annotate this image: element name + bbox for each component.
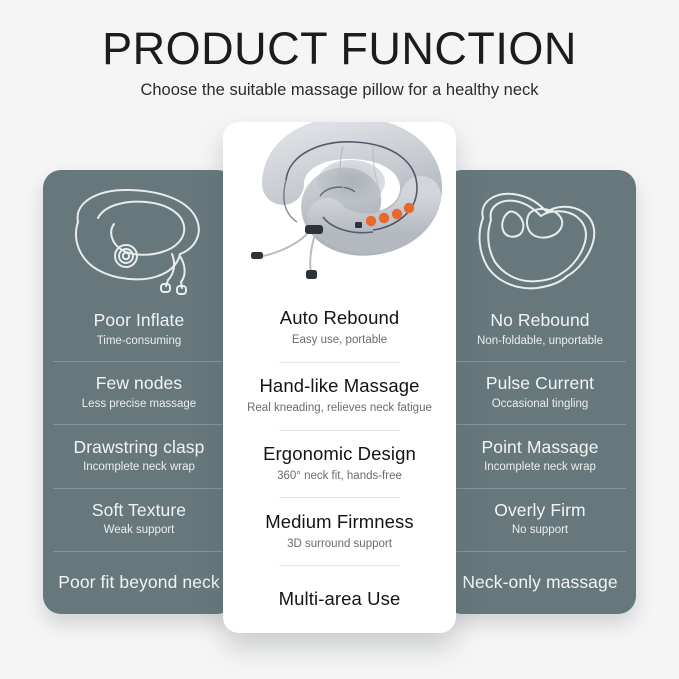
feature-title: Medium Firmness bbox=[265, 512, 414, 533]
feature-subtitle: Weak support bbox=[104, 524, 175, 537]
feature-title: Overly Firm bbox=[494, 501, 586, 521]
massage-pillow-product-photo bbox=[223, 122, 456, 294]
feature-subtitle: 3D surround support bbox=[287, 538, 392, 551]
list-item: Few nodes Less precise massage bbox=[43, 361, 235, 424]
center-column-card: Auto Rebound Easy use, portable Hand-lik… bbox=[223, 122, 456, 633]
feature-title: Soft Texture bbox=[92, 501, 186, 521]
feature-subtitle: Easy use, portable bbox=[292, 334, 387, 347]
list-item: Soft Texture Weak support bbox=[43, 488, 235, 551]
feature-title: Hand-like Massage bbox=[259, 376, 419, 397]
feature-subtitle: Incomplete neck wrap bbox=[484, 461, 596, 474]
right-column-panel: No Rebound Non-foldable, unportable Puls… bbox=[444, 170, 636, 614]
feature-subtitle: Incomplete neck wrap bbox=[83, 461, 195, 474]
list-item: Overly Firm No support bbox=[444, 488, 636, 551]
feature-subtitle: Time-consuming bbox=[97, 335, 182, 348]
list-item: Multi-area Use bbox=[223, 565, 456, 633]
feature-title: Ergonomic Design bbox=[263, 444, 416, 465]
list-item: Pulse Current Occasional tingling bbox=[444, 361, 636, 424]
list-item: Ergonomic Design 360° neck fit, hands-fr… bbox=[223, 430, 456, 498]
list-item: Neck-only massage bbox=[444, 551, 636, 614]
feature-subtitle: Occasional tingling bbox=[492, 398, 589, 411]
left-column-panel: Poor Inflate Time-consuming Few nodes Le… bbox=[43, 170, 235, 614]
list-item: No Rebound Non-foldable, unportable bbox=[444, 298, 636, 361]
feature-title: Few nodes bbox=[96, 374, 183, 394]
right-feature-list: No Rebound Non-foldable, unportable Puls… bbox=[444, 298, 636, 614]
list-item: Auto Rebound Easy use, portable bbox=[223, 294, 456, 362]
inflatable-pillow-illustration bbox=[43, 178, 235, 298]
page-title: PRODUCT FUNCTION bbox=[0, 22, 679, 75]
feature-title: Auto Rebound bbox=[280, 308, 400, 329]
list-item: Point Massage Incomplete neck wrap bbox=[444, 424, 636, 487]
feature-title: No Rebound bbox=[490, 311, 589, 331]
feature-title: Neck-only massage bbox=[462, 573, 617, 593]
feature-subtitle: Less precise massage bbox=[82, 398, 196, 411]
feature-subtitle: Non-foldable, unportable bbox=[477, 335, 603, 348]
page-subtitle: Choose the suitable massage pillow for a… bbox=[0, 81, 679, 100]
list-item: Medium Firmness 3D surround support bbox=[223, 497, 456, 565]
neckband-massager-illustration bbox=[444, 178, 636, 298]
feature-title: Poor fit beyond neck bbox=[58, 573, 220, 593]
feature-subtitle: Real kneading, relieves neck fatigue bbox=[247, 402, 432, 415]
feature-title: Multi-area Use bbox=[279, 589, 401, 610]
list-item: Hand-like Massage Real kneading, relieve… bbox=[223, 362, 456, 430]
feature-title: Drawstring clasp bbox=[74, 438, 205, 458]
feature-title: Point Massage bbox=[481, 438, 598, 458]
list-item: Poor fit beyond neck bbox=[43, 551, 235, 614]
feature-title: Pulse Current bbox=[486, 374, 594, 394]
feature-subtitle: No support bbox=[512, 524, 568, 537]
list-item: Drawstring clasp Incomplete neck wrap bbox=[43, 424, 235, 487]
feature-subtitle: 360° neck fit, hands-free bbox=[277, 470, 402, 483]
left-feature-list: Poor Inflate Time-consuming Few nodes Le… bbox=[43, 298, 235, 614]
center-feature-list: Auto Rebound Easy use, portable Hand-lik… bbox=[223, 294, 456, 633]
header: PRODUCT FUNCTION Choose the suitable mas… bbox=[0, 22, 679, 100]
feature-title: Poor Inflate bbox=[94, 311, 185, 331]
list-item: Poor Inflate Time-consuming bbox=[43, 298, 235, 361]
infographic-page: PRODUCT FUNCTION Choose the suitable mas… bbox=[0, 0, 679, 679]
